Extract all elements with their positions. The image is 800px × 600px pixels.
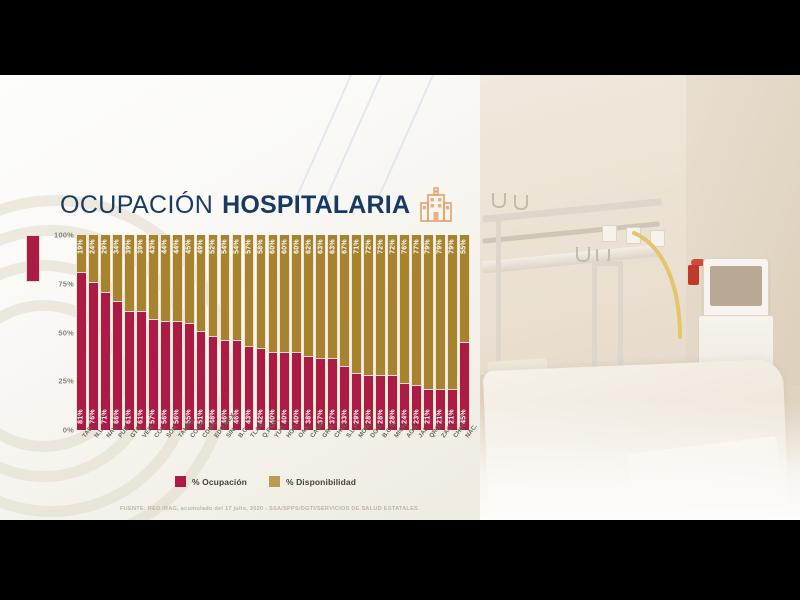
bar-label-disponibilidad: 60% [281, 239, 288, 254]
x-axis-tick: GRO. [315, 431, 326, 467]
bar-segment-ocupacion: 55% [185, 323, 194, 430]
bar-segment-ocupacion: 51% [197, 331, 206, 430]
title-light: OCUPACIÓN [60, 191, 213, 220]
bar-label-disponibilidad: 62% [305, 239, 312, 254]
hospital-room-photo: Contigoal100 [480, 75, 800, 520]
bar-column[interactable]: 72%28% [375, 235, 386, 430]
decorative-diagonal [378, 75, 449, 198]
bar-label-ocupacion: 21% [425, 409, 432, 424]
legend-item: % Ocupación [175, 476, 247, 487]
bar-column[interactable]: 63%37% [315, 235, 326, 430]
bar-label-disponibilidad: 29% [102, 239, 109, 254]
bar-segment-disponibilidad: 55% [460, 235, 469, 342]
bar-segment-disponibilidad: 49% [197, 235, 206, 331]
chart-plot-area: 19%81%24%76%29%71%34%66%39%61%39%61%43%5… [76, 235, 470, 430]
y-axis-tick: 100% [54, 231, 74, 240]
bar-segment-ocupacion: 38% [304, 356, 313, 430]
bar-column[interactable]: 43%57% [148, 235, 159, 430]
x-axis-tick: PUE. [112, 431, 123, 467]
bar-column[interactable]: 62%38% [303, 235, 314, 430]
bar-segment-ocupacion: 61% [137, 311, 146, 430]
bar-label-disponibilidad: 54% [233, 239, 240, 254]
bar-column[interactable]: 60%40% [268, 235, 279, 430]
bar-label-disponibilidad: 57% [245, 239, 252, 254]
bar-segment-disponibilidad: 43% [149, 235, 158, 319]
bar-label-ocupacion: 81% [78, 409, 85, 424]
bar-segment-disponibilidad: 71% [352, 235, 361, 373]
letterbox-bottom [0, 520, 800, 600]
bar-segment-disponibilidad: 39% [137, 235, 146, 311]
bar-segment-ocupacion: 42% [257, 348, 266, 430]
bar-segment-ocupacion: 28% [376, 375, 385, 430]
bar-column[interactable]: 63%37% [327, 235, 338, 430]
legend-label: % Ocupación [192, 477, 247, 487]
bar-label-disponibilidad: 58% [257, 239, 264, 254]
x-axis-tick: ZAC. [435, 431, 446, 467]
infographic-panel: OCUPACIÓN HOSPITALARIA 0%25%50%75% [0, 75, 480, 520]
bar-segment-disponibilidad: 72% [376, 235, 385, 375]
bar-column[interactable]: 39%61% [136, 235, 147, 430]
bar-segment-disponibilidad: 62% [304, 235, 313, 356]
bar-label-disponibilidad: 54% [222, 239, 229, 254]
bar-segment-ocupacion: 71% [101, 292, 110, 430]
x-axis-tick: TLAX. [244, 431, 255, 467]
x-axis-tick: B.C. [232, 431, 243, 467]
x-axis-tick: MICH. [387, 431, 398, 467]
bar-label-disponibilidad: 39% [126, 239, 133, 254]
bar-segment-disponibilidad: 34% [113, 235, 122, 301]
bar-label-disponibilidad: 49% [198, 239, 205, 254]
chart-side-swatch [26, 235, 40, 282]
bar-column[interactable]: 77%23% [411, 235, 422, 430]
bar-label-disponibilidad: 43% [150, 239, 157, 254]
x-axis-tick: Q.ROO. [256, 431, 267, 467]
chart-source-note: FUENTE: RED IRAG, acumulado del 17 julio… [120, 506, 418, 512]
x-axis-tick: COL. [148, 431, 159, 467]
bar-segment-disponibilidad: 45% [185, 235, 194, 323]
x-axis-tick: B.C.S. [375, 431, 386, 467]
bar-segment-ocupacion: 40% [292, 352, 301, 430]
bar-column[interactable]: 72%28% [363, 235, 374, 430]
decorative-diagonal [296, 75, 367, 198]
bar-column[interactable]: 67%33% [339, 235, 350, 430]
x-axis-tick: SIN. [220, 431, 231, 467]
bar-segment-ocupacion: 76% [89, 282, 98, 430]
bar-segment-disponibilidad: 72% [388, 235, 397, 375]
bar-column[interactable]: 76%24% [399, 235, 410, 430]
bar-label-ocupacion: 56% [162, 409, 169, 424]
bar-segment-disponibilidad: 63% [316, 235, 325, 358]
photo-oxygen-tube [632, 225, 702, 345]
bar-column[interactable]: 55%45% [459, 235, 470, 430]
bar-segment-disponibilidad: 19% [77, 235, 86, 272]
bar-label-ocupacion: 21% [449, 409, 456, 424]
bar-column[interactable]: 52%48% [208, 235, 219, 430]
x-axis-tick: NAC. [459, 431, 470, 467]
bar-label-disponibilidad: 24% [90, 239, 97, 254]
bar-segment-disponibilidad: 57% [245, 235, 254, 346]
bar-segment-ocupacion: 81% [77, 272, 86, 430]
x-axis-tick: NAY. [100, 431, 111, 467]
bar-column[interactable]: 57%43% [244, 235, 255, 430]
bar-label-ocupacion: 76% [90, 409, 97, 424]
bar-segment-disponibilidad: 72% [364, 235, 373, 375]
bar-label-disponibilidad: 52% [210, 239, 217, 254]
bar-label-disponibilidad: 55% [461, 239, 468, 254]
bar-label-disponibilidad: 63% [329, 239, 336, 254]
bar-segment-disponibilidad: 60% [292, 235, 301, 352]
x-axis-tick: DGO. [363, 431, 374, 467]
bar-segment-disponibilidad: 39% [125, 235, 134, 311]
bar-column[interactable]: 49%51% [196, 235, 207, 430]
bar-segment-ocupacion: 66% [113, 301, 122, 430]
x-axis-tick: CAMP. [303, 431, 314, 467]
x-axis-tick: SON. [160, 431, 171, 467]
x-axis-tick: QRO. [423, 431, 434, 467]
bar-segment-disponibilidad: 44% [161, 235, 170, 321]
bar-label-disponibilidad: 77% [413, 239, 420, 254]
bar-label-disponibilidad: 19% [78, 239, 85, 254]
letterbox-top [0, 0, 800, 75]
bar-segment-disponibilidad: 79% [424, 235, 433, 389]
bar-column[interactable]: 79%21% [423, 235, 434, 430]
x-axis-tick: YUC. [268, 431, 279, 467]
bar-label-disponibilidad: 67% [341, 239, 348, 254]
photo-iv-hook [576, 247, 590, 262]
bar-label-disponibilidad: 45% [186, 239, 193, 254]
photo-wall-outlet [602, 225, 617, 242]
bar-label-disponibilidad: 79% [437, 239, 444, 254]
bar-column[interactable]: 79%21% [447, 235, 458, 430]
x-axis-tick: VER. [136, 431, 147, 467]
bar-segment-disponibilidad: 76% [400, 235, 409, 383]
bar-label-disponibilidad: 72% [389, 239, 396, 254]
bar-segment-ocupacion: 56% [173, 321, 182, 430]
bar-column[interactable]: 34%66% [112, 235, 123, 430]
bar-segment-ocupacion: 48% [209, 336, 218, 430]
x-axis-tick: HGO. [279, 431, 290, 467]
legend-swatch [269, 476, 280, 487]
bar-label-disponibilidad: 72% [377, 239, 384, 254]
legend-item: % Disponibilidad [269, 476, 356, 487]
bar-segment-disponibilidad: 44% [173, 235, 182, 321]
x-axis-tick: CDMX. [196, 431, 207, 467]
x-axis-tick: TAB. [76, 431, 87, 467]
bar-segment-ocupacion: 43% [245, 346, 254, 430]
bar-segment-disponibilidad: 67% [340, 235, 349, 366]
photo-iv-hook [492, 193, 506, 208]
bar-label-disponibilidad: 76% [401, 239, 408, 254]
bar-label-disponibilidad: 79% [449, 239, 456, 254]
photo-bottom-fade [480, 400, 800, 520]
bar-label-disponibilidad: 71% [353, 239, 360, 254]
legend-label: % Disponibilidad [286, 477, 356, 487]
hospital-building-icon [419, 187, 453, 223]
bar-column[interactable]: 60%40% [291, 235, 302, 430]
legend-swatch [175, 476, 186, 487]
bar-segment-disponibilidad: 79% [448, 235, 457, 389]
bar-label-ocupacion: 71% [102, 409, 109, 424]
x-axis-tick: AGS. [399, 431, 410, 467]
bar-label-disponibilidad: 60% [293, 239, 300, 254]
bar-segment-disponibilidad: 52% [209, 235, 218, 336]
bar-label-disponibilidad: 63% [317, 239, 324, 254]
bar-label-ocupacion: 40% [281, 409, 288, 424]
screenshot-root: OCUPACIÓN HOSPITALARIA 0%25%50%75% [0, 0, 800, 600]
bar-column[interactable]: 54%46% [232, 235, 243, 430]
page-title: OCUPACIÓN HOSPITALARIA [60, 187, 453, 223]
x-axis-tick: CHIS. [327, 431, 338, 467]
y-axis-tick: 25% [58, 377, 74, 386]
bar-segment-disponibilidad: 60% [280, 235, 289, 352]
bar-column[interactable]: 39%61% [124, 235, 135, 430]
photo-iv-hook [514, 195, 528, 210]
bar-column[interactable]: 29%71% [100, 235, 111, 430]
x-axis-tick: GTO. [124, 431, 135, 467]
bar-segment-ocupacion: 37% [328, 358, 337, 430]
bar-segment-ocupacion: 29% [352, 373, 361, 430]
bar-column[interactable]: 24%76% [88, 235, 99, 430]
x-axis-tick: N.L. [88, 431, 99, 467]
bar-column[interactable]: 71%29% [351, 235, 362, 430]
x-axis-tick: MOR. [351, 431, 362, 467]
photo-red-valve [688, 265, 699, 285]
bar-segment-ocupacion: 56% [161, 321, 170, 430]
x-axis-tick: COAH. [184, 431, 195, 467]
bar-column[interactable]: 45%55% [184, 235, 195, 430]
bar-segment-disponibilidad: 79% [436, 235, 445, 389]
bar-label-disponibilidad: 34% [114, 239, 121, 254]
x-axis-tick: TAMPS. [172, 431, 183, 467]
y-axis-tick: 50% [58, 328, 74, 337]
bar-segment-disponibilidad: 54% [221, 235, 230, 340]
bar-segment-ocupacion: 57% [149, 319, 158, 430]
bar-segment-disponibilidad: 24% [89, 235, 98, 282]
bar-segment-ocupacion: 45% [460, 342, 469, 430]
occupancy-chart: 0%25%50%75%100% 19%81%24%76%29%71%34%66%… [18, 235, 470, 440]
x-axis-tick: EDO.MEX. [208, 431, 219, 467]
bar-label-disponibilidad: 39% [138, 239, 145, 254]
bar-label-ocupacion: 57% [150, 409, 157, 424]
x-axis: TAB.N.L.NAY.PUE.GTO.VER.COL.SON.TAMPS.CO… [76, 431, 470, 467]
y-axis-tick: 75% [58, 279, 74, 288]
bar-label-disponibilidad: 79% [425, 239, 432, 254]
bar-label-ocupacion: 61% [126, 409, 133, 424]
bar-segment-disponibilidad: 60% [269, 235, 278, 352]
x-axis-tick: JAL. [411, 431, 422, 467]
bar-segment-disponibilidad: 29% [101, 235, 110, 292]
bar-label-ocupacion: 61% [138, 409, 145, 424]
bar-label-disponibilidad: 44% [174, 239, 181, 254]
bar-column[interactable]: 72%28% [387, 235, 398, 430]
bar-segment-ocupacion: 61% [125, 311, 134, 430]
chart-legend: % Ocupación% Disponibilidad [175, 476, 356, 487]
bar-label-ocupacion: 43% [245, 409, 252, 424]
bar-label-disponibilidad: 44% [162, 239, 169, 254]
bar-label-ocupacion: 66% [114, 409, 121, 424]
bar-segment-disponibilidad: 58% [257, 235, 266, 348]
bar-label-disponibilidad: 60% [269, 239, 276, 254]
bar-column[interactable]: 60%40% [279, 235, 290, 430]
bar-column[interactable]: 58%42% [256, 235, 267, 430]
x-axis-tick: S.L.P. [339, 431, 350, 467]
bar-column[interactable]: 19%81% [76, 235, 87, 430]
y-axis-tick: 0% [63, 426, 74, 435]
bar-column[interactable]: 44%56% [172, 235, 183, 430]
bar-label-disponibilidad: 72% [365, 239, 372, 254]
bar-segment-disponibilidad: 63% [328, 235, 337, 358]
bar-column[interactable]: 54%46% [220, 235, 231, 430]
bar-segment-disponibilidad: 77% [412, 235, 421, 385]
bar-column[interactable]: 44%56% [160, 235, 171, 430]
bar-segment-ocupacion: 40% [280, 352, 289, 430]
x-axis-tick: OAX. [291, 431, 302, 467]
bar-column[interactable]: 79%21% [435, 235, 446, 430]
bar-segment-disponibilidad: 54% [233, 235, 242, 340]
title-bold: HOSPITALARIA [222, 191, 410, 220]
bar-segment-ocupacion: 33% [340, 366, 349, 430]
x-axis-tick: CHIH. [447, 431, 458, 467]
photo-monitor-screen [710, 266, 762, 306]
photo-patient-monitor [703, 258, 769, 322]
y-axis: 0%25%50%75%100% [40, 235, 74, 430]
